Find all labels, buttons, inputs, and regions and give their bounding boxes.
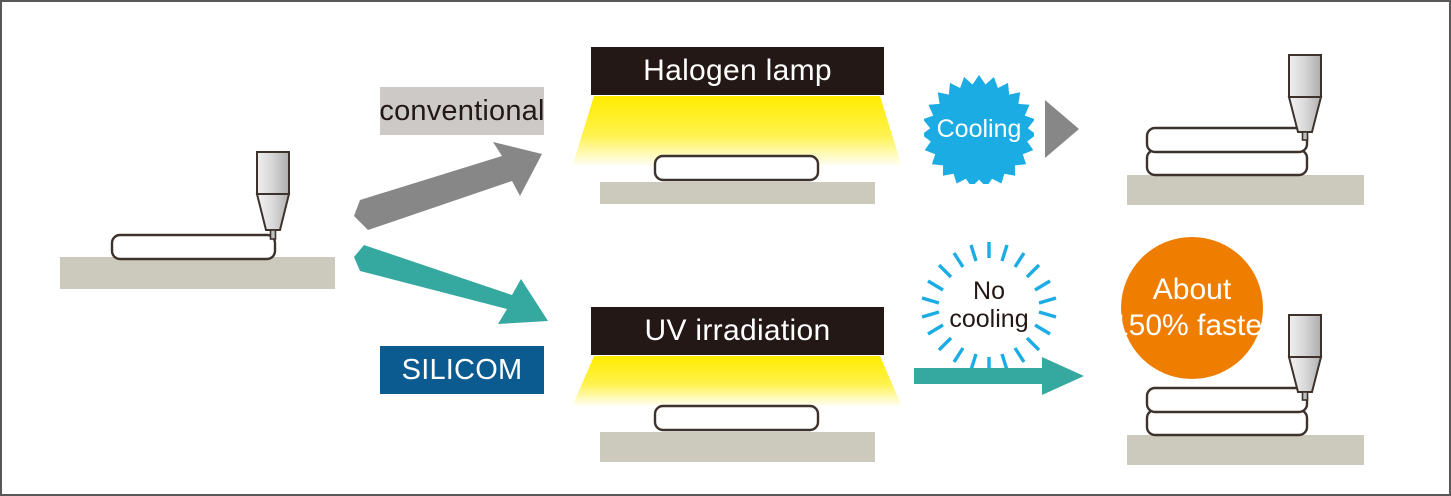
- radiating-rays-icon: [914, 240, 1064, 370]
- uv-assembly: [572, 354, 902, 464]
- bead-layer-2: [1147, 150, 1307, 175]
- triangle-right-icon: [1045, 100, 1079, 158]
- starburst-icon: [924, 74, 1034, 184]
- substrate: [600, 182, 875, 204]
- arrow-conventional: [352, 140, 552, 232]
- bead-layer-1: [112, 235, 275, 259]
- cooling-badge: Cooling: [924, 74, 1034, 184]
- bead-layer-1: [655, 156, 818, 180]
- substrate: [60, 257, 335, 289]
- arrow-right-icon: [914, 357, 1084, 395]
- dispenser-nozzle-icon: [257, 152, 289, 239]
- substrate: [1127, 435, 1364, 465]
- diagram-canvas: conventional SILICOM Halogen lamp Coolin…: [0, 0, 1451, 496]
- result-line1: About: [1153, 272, 1231, 308]
- uv-lamp-bar: UV irradiation: [591, 307, 884, 355]
- bead-layer-1: [1147, 128, 1307, 152]
- conventional-result-assembly: [1127, 47, 1427, 207]
- teal-diagonal-arrow-icon: [354, 245, 548, 324]
- halogen-assembly: [572, 94, 902, 204]
- no-cooling-badge: No cooling: [914, 240, 1064, 370]
- label-conventional: conventional: [380, 87, 544, 135]
- substrate: [600, 432, 875, 462]
- start-assembly-svg: [57, 142, 357, 292]
- halogen-lamp-bar: Halogen lamp: [591, 47, 884, 95]
- light-cone: [572, 356, 902, 407]
- start-assembly: [57, 142, 357, 292]
- result-line2: 150% faster: [1112, 308, 1272, 344]
- bead-layer-1: [655, 406, 818, 430]
- arrow-to-result: [914, 357, 1084, 395]
- bead-layer-1: [1147, 388, 1307, 412]
- result-badge: About 150% faster: [1121, 237, 1263, 379]
- substrate: [1127, 175, 1364, 205]
- arrow-silicom: [352, 245, 552, 337]
- gray-diagonal-arrow-icon: [354, 142, 542, 230]
- bead-layer-2: [1147, 410, 1307, 435]
- label-silicom: SILICOM: [380, 346, 544, 394]
